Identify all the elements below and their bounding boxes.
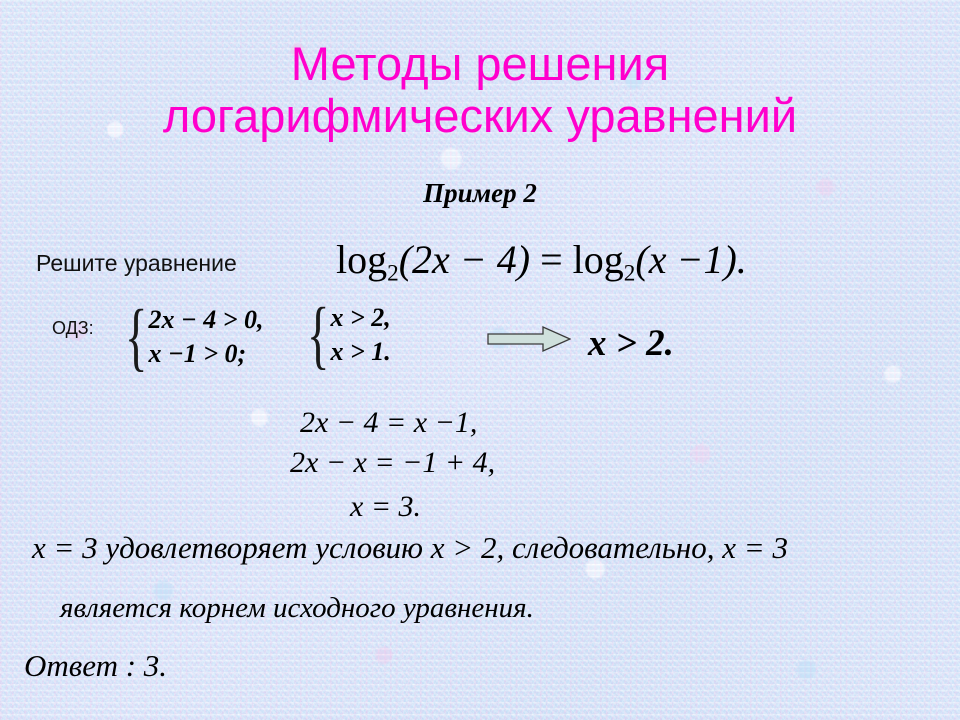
arrow-shape [488, 327, 570, 351]
equation-equals: = [540, 237, 563, 282]
conclusion-line-2: является корнем исходного уравнения. [60, 592, 534, 625]
odz-result: x > 2. [588, 322, 674, 365]
log-rhs-arg: (x −1). [635, 237, 746, 282]
answer-line: Ответ : 3. [24, 648, 167, 684]
odz-system-rows: 2x − 4 > 0, x −1 > 0; [148, 303, 263, 371]
log-lhs-base: 2 [387, 260, 399, 286]
odz-label: ОДЗ: [52, 318, 94, 339]
left-brace-icon: { [125, 310, 148, 365]
odz-row: x −1 > 0; [148, 337, 263, 371]
log-rhs-base: 2 [624, 260, 636, 286]
odz-row: 2x − 4 > 0, [148, 303, 263, 337]
odz-system-rows: x > 2, x > 1. [330, 301, 390, 369]
log-lhs: log [336, 237, 387, 282]
slide-canvas: Методы решения логарифмических уравнений… [0, 0, 960, 720]
left-brace-icon: { [307, 308, 330, 363]
slide-title: Методы решения логарифмических уравнений [0, 38, 960, 142]
right-block-arrow-icon [487, 325, 571, 353]
conclusion-line-1: x = 3 удовлетворяет условию x > 2, следо… [32, 530, 788, 566]
example-heading: Пример 2 [0, 178, 960, 209]
solution-step: 2x − x = −1 + 4, [290, 446, 495, 480]
odz-row: x > 2, [330, 301, 390, 335]
main-equation: log2(2x − 4) = log2(x −1). [336, 238, 747, 295]
slide-content: Методы решения логарифмических уравнений… [0, 0, 960, 720]
solution-step: x = 3. [350, 490, 421, 524]
log-lhs-arg: (2x − 4) [399, 237, 530, 282]
odz-system-simplified: { x > 2, x > 1. [300, 301, 391, 369]
odz-system-original: { 2x − 4 > 0, x −1 > 0; [118, 303, 264, 371]
log-rhs: log [573, 237, 624, 282]
solve-instruction-label: Решите уравнение [36, 250, 237, 277]
odz-row: x > 1. [330, 335, 390, 369]
solution-step: 2x − 4 = x −1, [300, 406, 477, 440]
